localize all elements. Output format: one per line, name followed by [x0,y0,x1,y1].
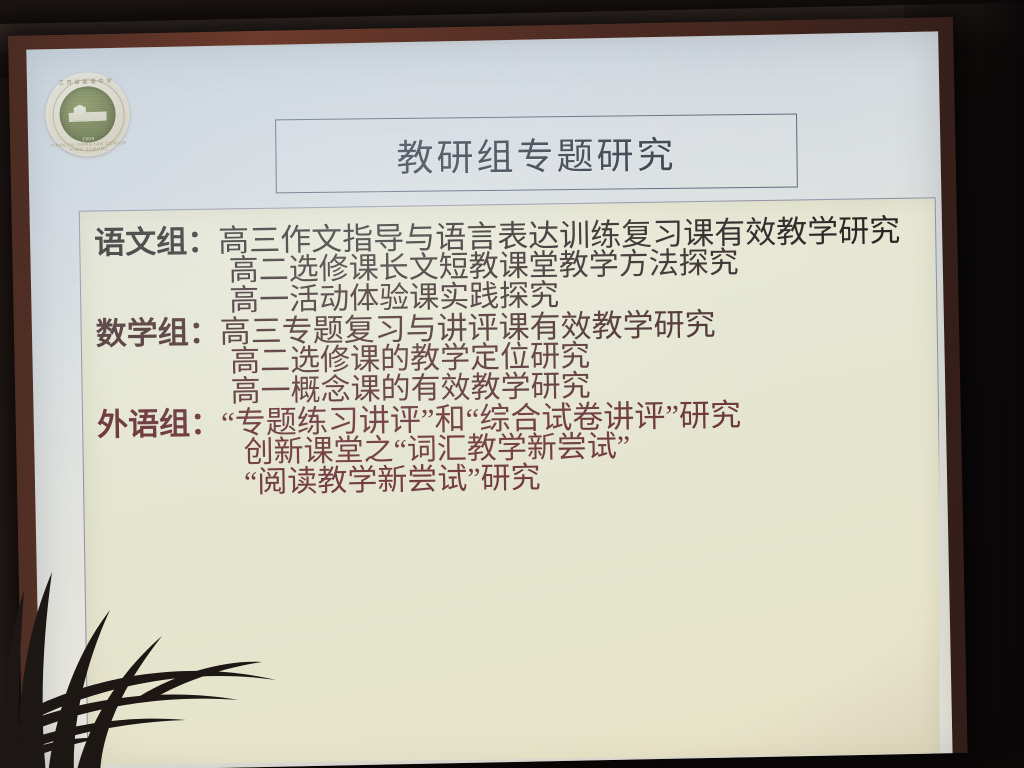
projection-screen-wrap: 江苏省姜堰中学 1905 JIANGSU JIANGYAN SENIOR HIG… [8,17,968,768]
group-label-chinese: 语文组： [94,226,218,259]
group-label-math: 数学组： [95,317,219,350]
crest-building-icon [68,104,107,122]
projection-screen: 江苏省姜堰中学 1905 JIANGSU JIANGYAN SENIOR HIG… [26,31,952,768]
crest-english-arc-text: JIANGSU JIANGYAN SENIOR HIGH SCHOOL [47,140,131,153]
slide-content-box: 语文组： 高三作文指导与语言表达训练复习课有效教学研究 高二选修课长文短教课堂教… [79,197,945,768]
slide-title-box: 教研组专题研究 [275,113,798,193]
slide-title: 教研组专题研究 [396,125,677,182]
screen-frame: 江苏省姜堰中学 1905 JIANGSU JIANGYAN SENIOR HIG… [8,17,968,768]
school-crest-logo: 江苏省姜堰中学 1905 JIANGSU JIANGYAN SENIOR HIG… [44,71,131,158]
crest-chinese-arc-text: 江苏省姜堰中学 [44,76,128,87]
group-item-text: “阅读教学新尝试”研究 [244,464,541,499]
slide-surface: 江苏省姜堰中学 1905 JIANGSU JIANGYAN SENIOR HIG… [26,31,952,768]
group-label-foreign-language: 外语组： [97,408,221,441]
projected-slide-photo: Radiant 江苏省姜堰中学 1905 JIANGSU JIANGYAN SE… [0,0,1024,768]
